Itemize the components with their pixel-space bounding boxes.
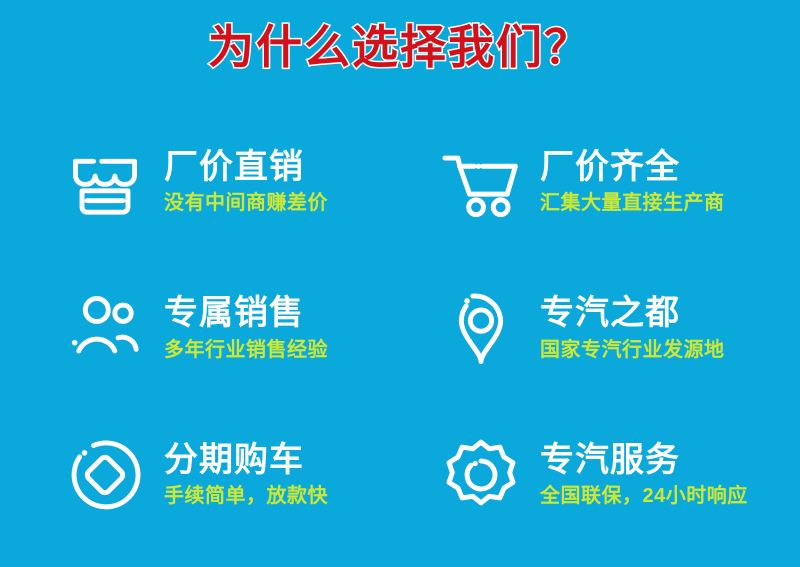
feature-text: 专汽服务 全国联保，24小时响应 — [540, 441, 748, 508]
page-title: 为什么选择我们？ — [208, 22, 592, 73]
feature-item-installment-purchase[interactable]: 分期购车 手续简单，放款快 — [62, 401, 432, 548]
feature-item-full-factory-range[interactable]: 厂价齐全 汇集大量直接生产商 — [432, 108, 800, 255]
feature-item-factory-direct-sales[interactable]: 厂价直销 没有中间商赚差价 — [62, 108, 432, 255]
storefront-icon — [62, 138, 148, 224]
feature-grid: 厂价直销 没有中间商赚差价 厂价齐全 汇集大量直接生产商 — [0, 108, 800, 548]
two-people-icon — [62, 285, 148, 371]
feature-title: 分期购车 — [164, 441, 328, 480]
feature-title: 专汽服务 — [540, 441, 748, 480]
feature-text: 专属销售 多年行业销售经验 — [164, 294, 328, 361]
feature-text: 专汽之都 国家专汽行业发源地 — [540, 294, 725, 361]
feature-subtitle: 国家专汽行业发源地 — [540, 338, 725, 362]
promo-poster: 为什么选择我们？ 厂价直销 没有中间商赚差价 — [0, 0, 800, 567]
feature-subtitle: 全国联保，24小时响应 — [540, 484, 748, 508]
feature-title: 厂价直销 — [164, 148, 328, 187]
feature-item-special-vehicle-capital[interactable]: 专汽之都 国家专汽行业发源地 — [432, 255, 800, 402]
feature-title: 厂价齐全 — [540, 148, 725, 187]
feature-text: 厂价齐全 汇集大量直接生产商 — [540, 148, 725, 215]
headline-container: 为什么选择我们？ — [0, 22, 800, 73]
feature-subtitle: 多年行业销售经验 — [164, 338, 328, 362]
map-pin-icon — [438, 285, 524, 371]
feature-title: 专属销售 — [164, 294, 328, 333]
feature-text: 厂价直销 没有中间商赚差价 — [164, 148, 328, 215]
feature-subtitle: 手续简单，放款快 — [164, 484, 328, 508]
gear-icon — [438, 432, 524, 518]
feature-item-dedicated-sales[interactable]: 专属销售 多年行业销售经验 — [62, 255, 432, 402]
feature-item-special-vehicle-service[interactable]: 专汽服务 全国联保，24小时响应 — [432, 401, 800, 548]
feature-text: 分期购车 手续简单，放款快 — [164, 441, 328, 508]
feature-subtitle: 汇集大量直接生产商 — [540, 191, 725, 215]
feature-title: 专汽之都 — [540, 294, 725, 333]
shopping-cart-icon — [438, 138, 524, 224]
feature-subtitle: 没有中间商赚差价 — [164, 191, 328, 215]
circle-diamond-icon — [62, 432, 148, 518]
